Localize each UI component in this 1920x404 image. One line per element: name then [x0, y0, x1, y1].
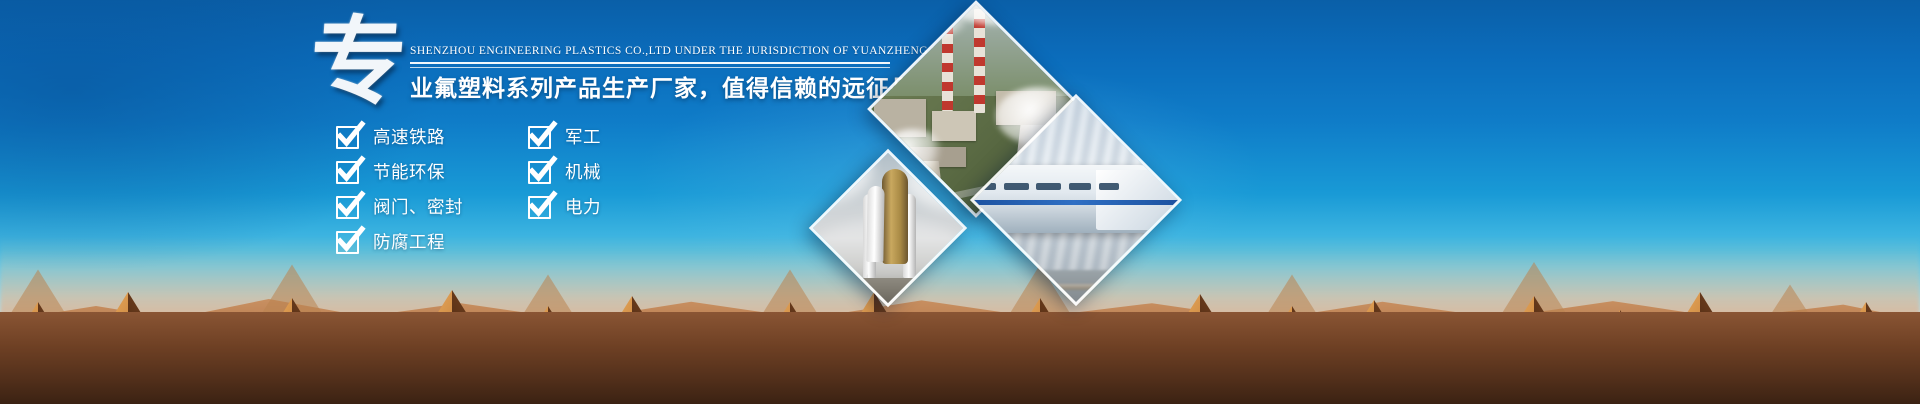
promo-banner: 专 SHENZHOU ENGINEERING PLASTICS CO.,LTD … [0, 0, 1920, 404]
feature-label: 阀门、密封 [373, 198, 463, 218]
feature-item: 高速铁路 [336, 120, 528, 155]
desert-ground [0, 312, 1920, 404]
feature-label: 机械 [565, 163, 601, 183]
check-icon [528, 161, 551, 184]
divider-rule-thick [410, 62, 890, 64]
feature-checklist: 高速铁路军工节能环保机械阀门、密封电力防腐工程 [336, 120, 656, 260]
check-icon [336, 231, 359, 254]
feature-item: 阀门、密封 [336, 190, 528, 225]
chinese-tagline: 业氟塑料系列产品生产厂家，值得信赖的远征品牌 [410, 74, 890, 104]
feature-label: 电力 [565, 198, 601, 218]
check-icon [336, 196, 359, 219]
check-icon [528, 196, 551, 219]
english-tagline: SHENZHOU ENGINEERING PLASTICS CO.,LTD UN… [410, 44, 890, 58]
brand-glyph: 专 [307, 14, 410, 110]
headline-text-group: SHENZHOU ENGINEERING PLASTICS CO.,LTD UN… [410, 44, 890, 104]
check-icon [336, 126, 359, 149]
feature-label: 节能环保 [373, 163, 445, 183]
divider-rules [410, 62, 890, 68]
headline-block: 专 SHENZHOU ENGINEERING PLASTICS CO.,LTD … [310, 14, 890, 114]
divider-rule-thin [410, 67, 890, 68]
feature-item: 机械 [528, 155, 656, 190]
feature-label: 高速铁路 [373, 128, 445, 148]
desert-pyramids [0, 244, 1920, 404]
feature-label: 军工 [565, 128, 601, 148]
check-icon [528, 126, 551, 149]
feature-item: 防腐工程 [336, 225, 528, 260]
feature-item: 节能环保 [336, 155, 528, 190]
feature-item: 电力 [528, 190, 656, 225]
feature-item: 军工 [528, 120, 656, 155]
feature-label: 防腐工程 [373, 233, 445, 253]
check-icon [336, 161, 359, 184]
